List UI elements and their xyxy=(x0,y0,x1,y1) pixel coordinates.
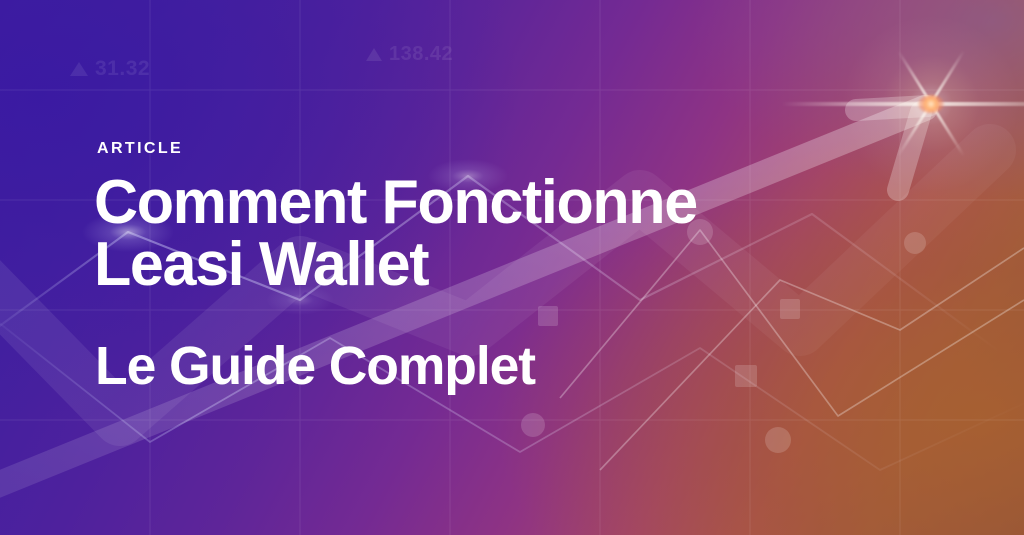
up-triangle-icon xyxy=(70,62,88,76)
page-subtitle: Le Guide Complet xyxy=(95,339,535,393)
page-title: Comment Fonctionne Leasi Wallet xyxy=(94,172,697,295)
page-title-line-2: Leasi Wallet xyxy=(94,234,697,296)
article-banner: 31.32 138.42 ARTICLE Comment Fonctionne … xyxy=(0,0,1024,535)
page-title-line-1: Comment Fonctionne xyxy=(94,172,697,234)
eyebrow-label: ARTICLE xyxy=(97,141,183,157)
banner-content: ARTICLE Comment Fonctionne Leasi Wallet … xyxy=(97,0,917,535)
